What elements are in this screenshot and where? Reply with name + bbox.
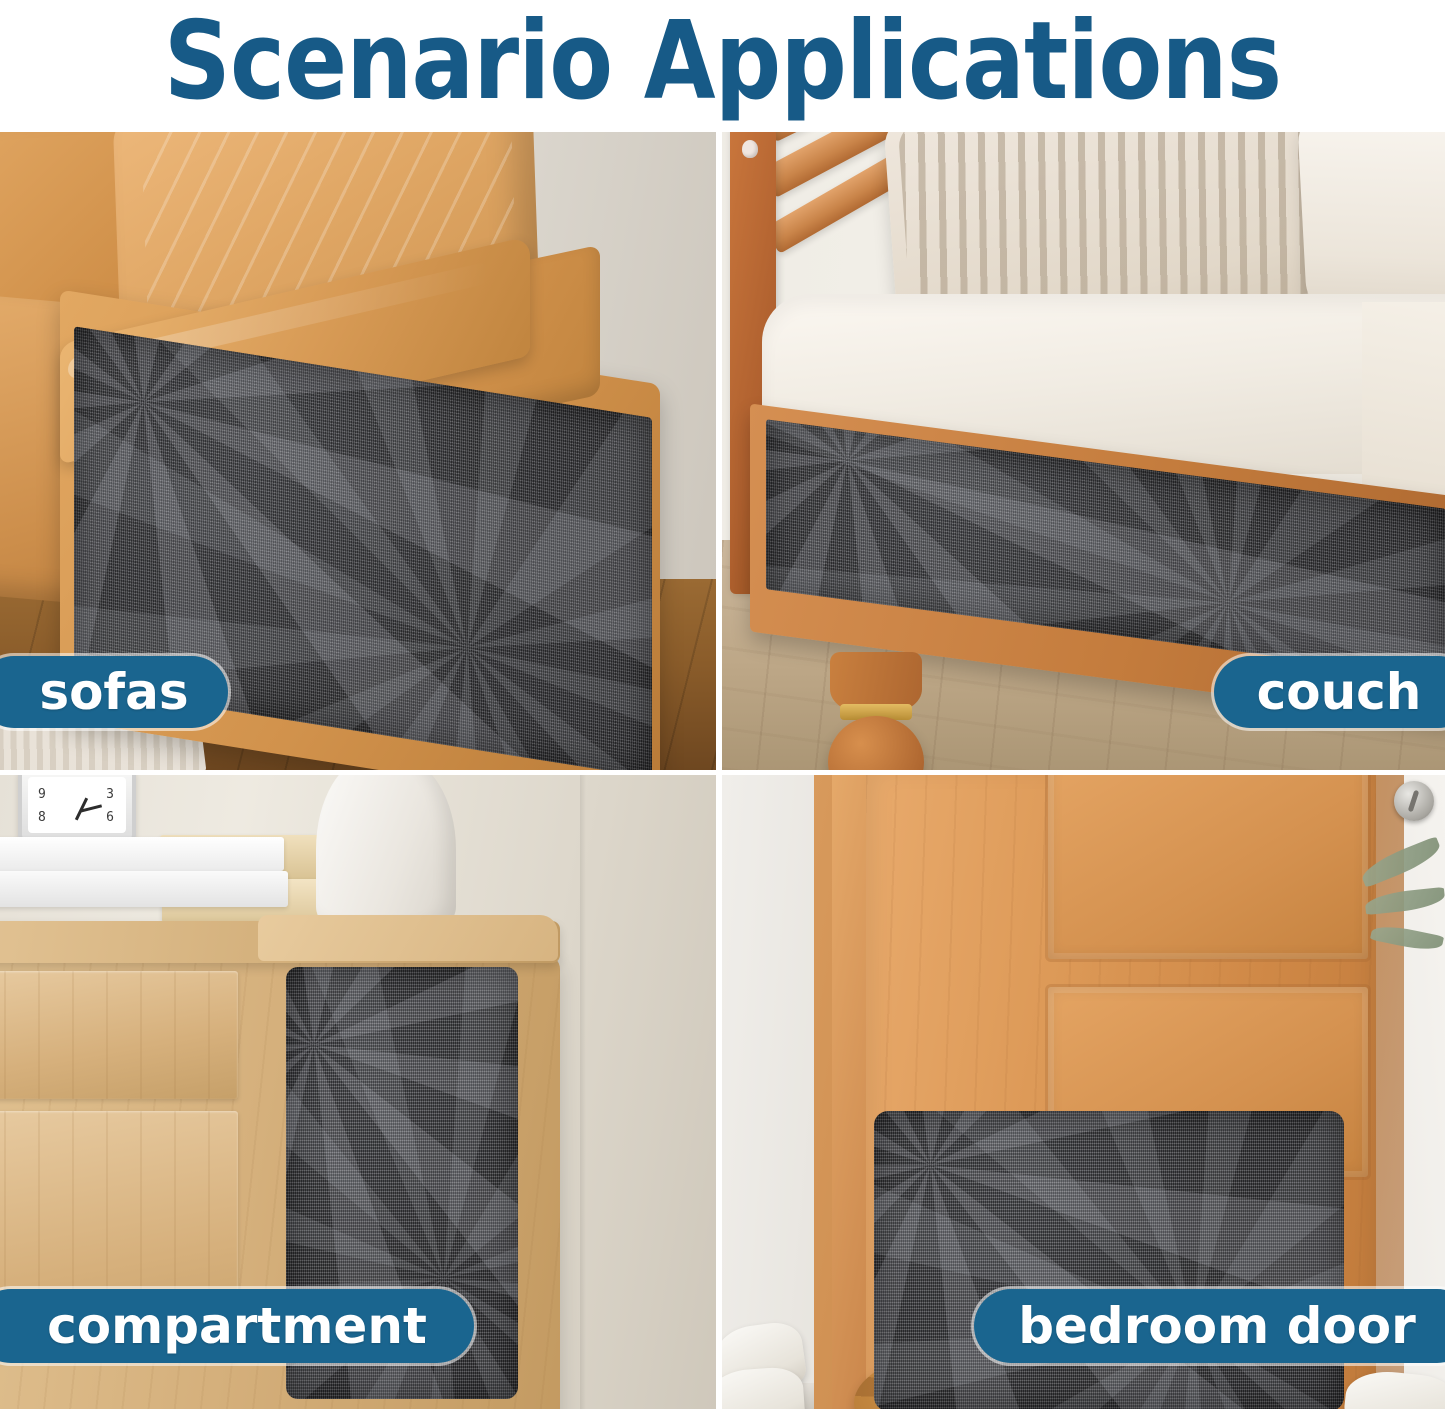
- leaf-icon: [1364, 887, 1445, 915]
- badge-couch: couch: [1214, 656, 1445, 728]
- alarm-clock-icon: 9 3 8 6: [18, 775, 136, 843]
- badge-compartment: compartment: [0, 1289, 474, 1363]
- product-listing-image: Scenario Applications sofas: [0, 0, 1445, 1409]
- book: [0, 871, 288, 907]
- plant-decoration: [1319, 831, 1439, 1001]
- leaf-icon: [1370, 922, 1444, 955]
- page-header: Scenario Applications: [0, 0, 1445, 132]
- gallery-cell-sofas[interactable]: sofas: [0, 132, 716, 770]
- badge-compartment-label: compartment: [47, 1297, 427, 1355]
- clock-numeral: 6: [106, 810, 114, 825]
- nightstand-drawer-upper: [0, 971, 238, 1099]
- gallery-cell-couch[interactable]: couch: [722, 132, 1445, 770]
- badge-bedroom-door: bedroom door: [974, 1289, 1445, 1363]
- door-lock-icon: [1394, 781, 1434, 821]
- door-frame-inner: [832, 775, 866, 1409]
- clock-numeral: 8: [38, 810, 46, 825]
- badge-sofas: sofas: [0, 656, 228, 728]
- white-pillow: [1297, 132, 1445, 321]
- book: [0, 837, 284, 871]
- ceramic-vase: [316, 775, 456, 935]
- scratch-mat-on-door: [874, 1111, 1344, 1409]
- leaf-icon: [1358, 836, 1444, 888]
- scenario-gallery-grid: sofas: [0, 132, 1445, 1409]
- wall-corner-shadow: [580, 775, 586, 1409]
- badge-sofas-label: sofas: [39, 663, 188, 721]
- gallery-cell-bedroom-door[interactable]: bedroom door: [722, 775, 1445, 1409]
- clock-numeral: 9: [38, 787, 46, 802]
- badge-bedroom-door-label: bedroom door: [1018, 1297, 1416, 1355]
- clock-face: 9 3 8 6: [28, 777, 126, 833]
- screw-cap-icon: [742, 140, 758, 158]
- page-title: Scenario Applications: [164, 10, 1281, 114]
- badge-couch-label: couch: [1257, 663, 1422, 721]
- nightstand-top-side: [258, 915, 558, 961]
- clock-numeral: 3: [106, 787, 114, 802]
- gallery-cell-compartment[interactable]: 9 3 8 6: [0, 775, 716, 1409]
